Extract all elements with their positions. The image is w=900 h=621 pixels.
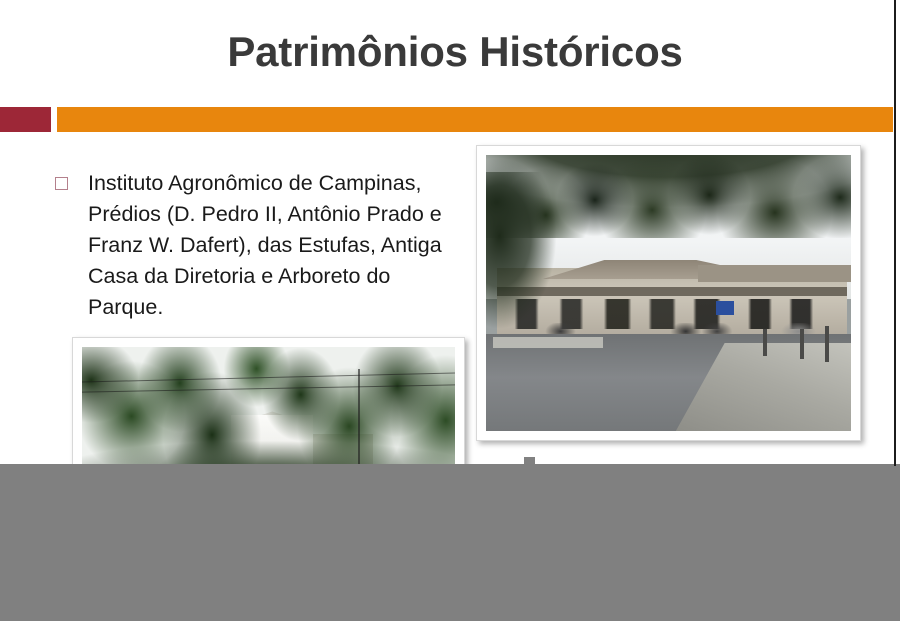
photo-instituto-agronomico-building xyxy=(476,145,861,441)
slide-canvas: Patrimônios Históricos Instituto Agronôm… xyxy=(0,0,900,621)
photo-curb xyxy=(493,337,603,348)
list-item-label: Instituto Agronômico de Campinas, Prédio… xyxy=(88,168,455,323)
photo-foliage xyxy=(82,347,455,471)
divider-band xyxy=(0,107,900,132)
photo-bollard-c xyxy=(825,326,829,362)
photo-image-area xyxy=(486,155,851,431)
photo-bollard-a xyxy=(763,329,767,357)
photo-arboreto-trees xyxy=(72,337,465,481)
photo-blue-sign xyxy=(716,301,734,315)
photo-bollard-b xyxy=(800,329,804,359)
list-item: Instituto Agronômico de Campinas, Prédio… xyxy=(55,168,455,323)
divider-accent-block xyxy=(0,107,51,132)
divider-bar xyxy=(57,107,893,132)
gray-overlay xyxy=(0,464,900,621)
photo-image-area xyxy=(82,347,455,471)
right-edge-rule xyxy=(894,0,896,466)
page-title: Patrimônios Históricos xyxy=(60,24,850,80)
photo-building-roof-right xyxy=(698,265,851,282)
lower-content-sliver xyxy=(524,457,535,464)
photo-utility-pole xyxy=(358,369,360,471)
bullet-list: Instituto Agronômico de Campinas, Prédio… xyxy=(55,168,455,323)
hollow-square-bullet-icon xyxy=(55,177,68,190)
photo-tree-canopy-left xyxy=(486,172,566,332)
